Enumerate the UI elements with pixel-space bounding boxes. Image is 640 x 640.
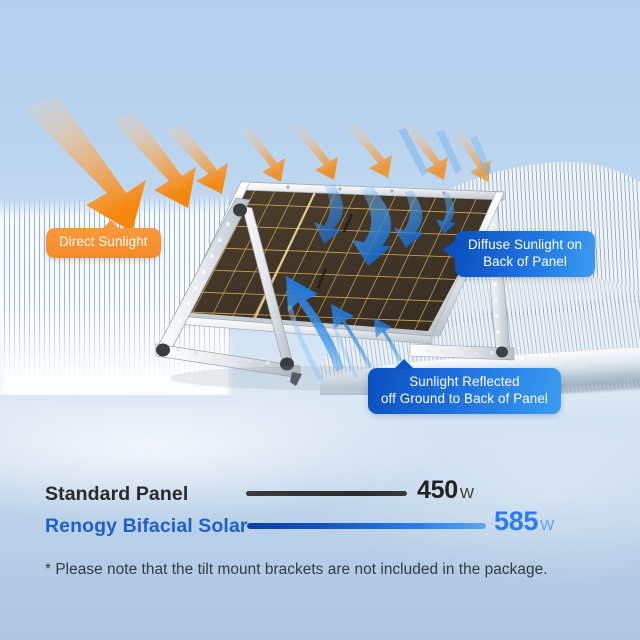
callout-tail-icon: [443, 240, 456, 260]
callout-diffuse-line-2: Back of Panel: [468, 254, 582, 271]
comparison-row-renogy-bifacial: Renogy Bifacial Solar 585W: [0, 511, 640, 541]
pivot-bolt-bottom-left: [156, 344, 170, 357]
standard-panel-value: 450: [417, 476, 458, 504]
renogy-bifacial-value-group: 585W: [494, 506, 554, 537]
product-illustration: Direct Sunlight Diffuse Sunlight on Back…: [0, 0, 640, 640]
renogy-bifacial-value: 585: [494, 506, 538, 536]
renogy-bifacial-bar: [247, 523, 486, 529]
power-comparison: Standard Panel 450W Renogy Bifacial Sola…: [0, 470, 640, 560]
standard-panel-bar: [246, 491, 407, 496]
renogy-bifacial-label: Renogy Bifacial Solar: [45, 515, 248, 538]
standard-panel-label: Standard Panel: [45, 483, 188, 506]
callout-diffuse-line-1: Diffuse Sunlight on: [468, 237, 582, 254]
standard-panel-unit: W: [460, 485, 474, 502]
comparison-row-standard-panel: Standard Panel 450W: [0, 479, 640, 509]
standard-panel-value-group: 450W: [417, 476, 474, 505]
callout-tail-icon: [394, 359, 414, 369]
footnote-text: * Please note that the tilt mount bracke…: [45, 561, 615, 579]
callout-reflected-line-1: Sunlight Reflected: [381, 374, 548, 391]
callout-direct-sunlight[interactable]: Direct Sunlight: [46, 228, 161, 258]
callout-tail-icon: [102, 220, 120, 229]
callout-direct-sunlight-label: Direct Sunlight: [59, 234, 148, 249]
callout-diffuse-sunlight[interactable]: Diffuse Sunlight on Back of Panel: [455, 231, 595, 277]
callout-reflected-sunlight[interactable]: Sunlight Reflected off Ground to Back of…: [368, 368, 561, 414]
renogy-bifacial-unit: W: [540, 517, 554, 534]
pivot-bolt-top: [233, 204, 247, 217]
callout-reflected-line-2: off Ground to Back of Panel: [381, 391, 548, 408]
